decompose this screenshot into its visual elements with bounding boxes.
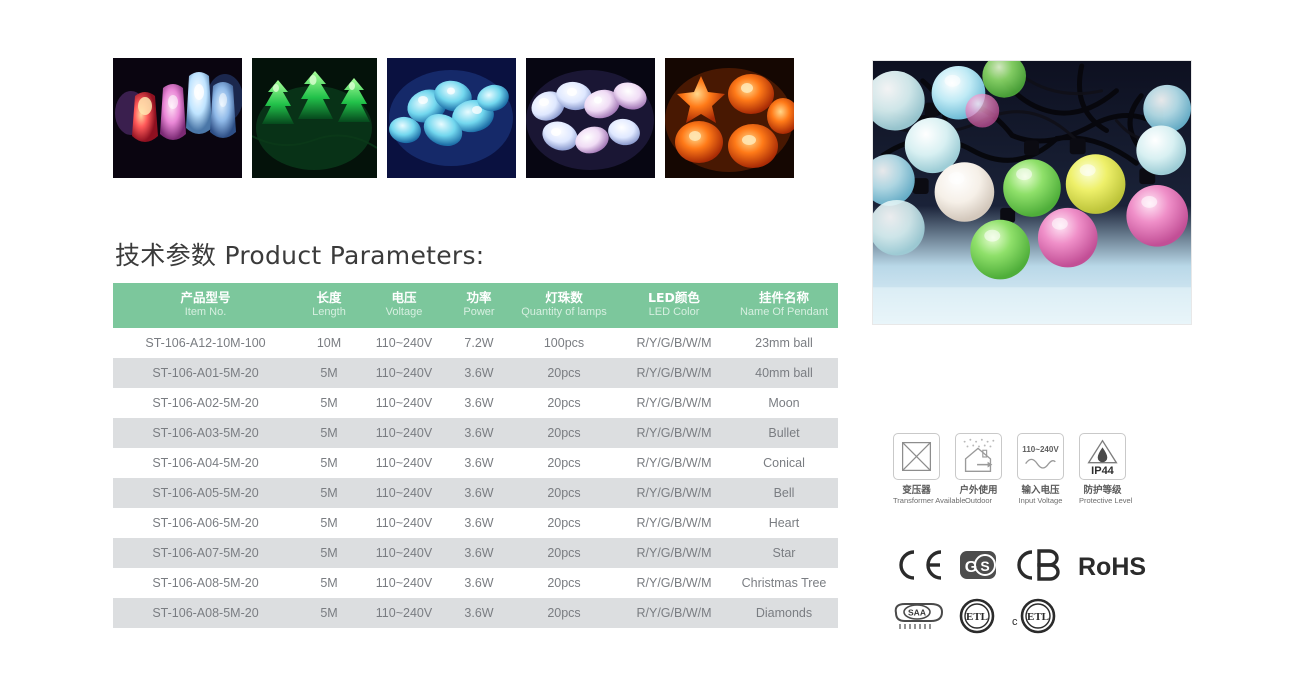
cell-length: 5M bbox=[298, 478, 360, 508]
svg-text:110~240V: 110~240V bbox=[1022, 445, 1059, 454]
cell-pendant-name: 40mm ball bbox=[730, 358, 838, 388]
column-header-length: 长度 Length bbox=[298, 283, 360, 328]
cell-power: 3.6W bbox=[448, 388, 510, 418]
input-voltage-icon: 110~240V bbox=[1017, 433, 1064, 480]
column-header-led-color: LED颜色 LED Color bbox=[618, 283, 730, 328]
cell-power: 3.6W bbox=[448, 418, 510, 448]
cell-pendant-name: Heart bbox=[730, 508, 838, 538]
cell-item-no: ST-106-A02-5M-20 bbox=[113, 388, 298, 418]
table-row: ST-106-A06-5M-205M110~240V3.6W20pcsR/Y/G… bbox=[113, 508, 838, 538]
cell-led-color: R/Y/G/B/W/M bbox=[618, 538, 730, 568]
table-row: ST-106-A03-5M-205M110~240V3.6W20pcsR/Y/G… bbox=[113, 418, 838, 448]
cell-length: 5M bbox=[298, 598, 360, 628]
feature-icon-group: 变压器 Transformer Available 户 bbox=[893, 433, 1126, 506]
cell-power: 3.6W bbox=[448, 358, 510, 388]
cell-item-no: ST-106-A01-5M-20 bbox=[113, 358, 298, 388]
cell-quantity: 20pcs bbox=[510, 538, 618, 568]
cell-led-color: R/Y/G/B/W/M bbox=[618, 418, 730, 448]
product-parameters-table: 产品型号 Item No. 长度 Length 电压 Voltage 功率 Po… bbox=[113, 283, 838, 628]
cell-quantity: 20pcs bbox=[510, 478, 618, 508]
table-row: ST-106-A12-10M-10010M110~240V7.2W100pcsR… bbox=[113, 328, 838, 358]
rohs-mark-icon: RoHS bbox=[1076, 548, 1154, 582]
cell-led-color: R/Y/G/B/W/M bbox=[618, 478, 730, 508]
column-header-item-no: 产品型号 Item No. bbox=[113, 283, 298, 328]
cell-power: 3.6W bbox=[448, 508, 510, 538]
cb-mark-icon bbox=[1011, 548, 1063, 582]
cell-length: 5M bbox=[298, 568, 360, 598]
table-row: ST-106-A08-5M-205M110~240V3.6W20pcsR/Y/G… bbox=[113, 598, 838, 628]
page-title-cn: 技术参数 bbox=[115, 241, 216, 270]
cell-quantity: 20pcs bbox=[510, 388, 618, 418]
cell-quantity: 20pcs bbox=[510, 598, 618, 628]
cell-led-color: R/Y/G/B/W/M bbox=[618, 358, 730, 388]
cell-voltage: 110~240V bbox=[360, 598, 448, 628]
cell-item-no: ST-106-A04-5M-20 bbox=[113, 448, 298, 478]
cell-power: 3.6W bbox=[448, 568, 510, 598]
table-body: ST-106-A12-10M-10010M110~240V7.2W100pcsR… bbox=[113, 328, 838, 628]
column-header-pendant-name: 挂件名称 Name Of Pendant bbox=[730, 283, 838, 328]
cell-led-color: R/Y/G/B/W/M bbox=[618, 448, 730, 478]
feature-outdoor: 户外使用 Outdoor bbox=[955, 433, 1002, 506]
cell-led-color: R/Y/G/B/W/M bbox=[618, 568, 730, 598]
bullet-lamps-photo bbox=[113, 58, 242, 178]
cell-voltage: 110~240V bbox=[360, 418, 448, 448]
cell-item-no: ST-106-A12-10M-100 bbox=[113, 328, 298, 358]
certification-row-secondary: SAA ETL c ETL bbox=[890, 597, 1058, 635]
transformer-icon bbox=[893, 433, 940, 480]
cell-pendant-name: 23mm ball bbox=[730, 328, 838, 358]
outdoor-house-rain-icon bbox=[955, 433, 1002, 480]
cell-power: 3.6W bbox=[448, 598, 510, 628]
cell-pendant-name: Christmas Tree bbox=[730, 568, 838, 598]
led-ball-string-lights-photo bbox=[872, 60, 1192, 325]
feature-transformer: 变压器 Transformer Available bbox=[893, 433, 940, 506]
certification-row-primary: G S RoHS bbox=[893, 548, 1154, 582]
svg-text:ETL: ETL bbox=[966, 611, 988, 623]
cell-led-color: R/Y/G/B/W/M bbox=[618, 328, 730, 358]
cetl-mark-icon: c ETL bbox=[1010, 597, 1058, 635]
table-header-row: 产品型号 Item No. 长度 Length 电压 Voltage 功率 Po… bbox=[113, 283, 838, 328]
etl-mark-icon: ETL bbox=[958, 597, 996, 635]
page-title-en: Product Parameters: bbox=[224, 241, 484, 270]
blue-flower-lamps-photo bbox=[387, 58, 516, 178]
white-petal-lamps-photo bbox=[526, 58, 655, 178]
product-spec-sheet: 技术参数 Product Parameters: 产品型号 Item No. 长… bbox=[0, 0, 1296, 687]
gs-mark-icon: G S bbox=[958, 548, 998, 582]
cell-item-no: ST-106-A06-5M-20 bbox=[113, 508, 298, 538]
cell-length: 10M bbox=[298, 328, 360, 358]
cell-length: 5M bbox=[298, 418, 360, 448]
cell-item-no: ST-106-A03-5M-20 bbox=[113, 418, 298, 448]
table-header: 产品型号 Item No. 长度 Length 电压 Voltage 功率 Po… bbox=[113, 283, 838, 328]
cell-voltage: 110~240V bbox=[360, 358, 448, 388]
column-header-voltage: 电压 Voltage bbox=[360, 283, 448, 328]
cell-power: 7.2W bbox=[448, 328, 510, 358]
cell-power: 3.6W bbox=[448, 538, 510, 568]
svg-text:S: S bbox=[980, 558, 989, 574]
cell-voltage: 110~240V bbox=[360, 478, 448, 508]
table-row: ST-106-A02-5M-205M110~240V3.6W20pcsR/Y/G… bbox=[113, 388, 838, 418]
cell-voltage: 110~240V bbox=[360, 538, 448, 568]
ce-mark-icon bbox=[893, 548, 945, 582]
cell-led-color: R/Y/G/B/W/M bbox=[618, 388, 730, 418]
cell-item-no: ST-106-A08-5M-20 bbox=[113, 568, 298, 598]
cell-led-color: R/Y/G/B/W/M bbox=[618, 598, 730, 628]
feature-protective-level: IP44 防护等级 Protective Level bbox=[1079, 433, 1126, 506]
cell-quantity: 20pcs bbox=[510, 418, 618, 448]
green-tree-lamps-photo bbox=[252, 58, 377, 178]
ip-rating-icon: IP44 bbox=[1079, 433, 1126, 480]
cell-power: 3.6W bbox=[448, 448, 510, 478]
cell-length: 5M bbox=[298, 448, 360, 478]
cell-item-no: ST-106-A07-5M-20 bbox=[113, 538, 298, 568]
table-row: ST-106-A01-5M-205M110~240V3.6W20pcsR/Y/G… bbox=[113, 358, 838, 388]
cell-pendant-name: Conical bbox=[730, 448, 838, 478]
svg-text:RoHS: RoHS bbox=[1078, 553, 1146, 581]
cell-quantity: 20pcs bbox=[510, 358, 618, 388]
cell-quantity: 20pcs bbox=[510, 568, 618, 598]
cell-voltage: 110~240V bbox=[360, 448, 448, 478]
cell-quantity: 20pcs bbox=[510, 448, 618, 478]
saa-mark-icon: SAA bbox=[890, 599, 944, 633]
page-title: 技术参数 Product Parameters: bbox=[115, 236, 485, 272]
column-header-quantity: 灯珠数 Quantity of lamps bbox=[510, 283, 618, 328]
table-row: ST-106-A05-5M-205M110~240V3.6W20pcsR/Y/G… bbox=[113, 478, 838, 508]
cell-pendant-name: Diamonds bbox=[730, 598, 838, 628]
svg-text:c: c bbox=[1012, 616, 1018, 628]
table-row: ST-106-A04-5M-205M110~240V3.6W20pcsR/Y/G… bbox=[113, 448, 838, 478]
cell-power: 3.6W bbox=[448, 478, 510, 508]
svg-text:IP44: IP44 bbox=[1091, 465, 1115, 477]
cell-item-no: ST-106-A05-5M-20 bbox=[113, 478, 298, 508]
cell-item-no: ST-106-A08-5M-20 bbox=[113, 598, 298, 628]
cell-quantity: 100pcs bbox=[510, 328, 618, 358]
cell-pendant-name: Bell bbox=[730, 478, 838, 508]
svg-text:ETL: ETL bbox=[1027, 611, 1049, 623]
cell-length: 5M bbox=[298, 538, 360, 568]
cell-voltage: 110~240V bbox=[360, 508, 448, 538]
product-thumbnail-strip bbox=[113, 58, 794, 178]
cell-led-color: R/Y/G/B/W/M bbox=[618, 508, 730, 538]
cell-voltage: 110~240V bbox=[360, 568, 448, 598]
cell-pendant-name: Star bbox=[730, 538, 838, 568]
svg-text:SAA: SAA bbox=[908, 608, 926, 618]
cell-pendant-name: Bullet bbox=[730, 418, 838, 448]
cell-quantity: 20pcs bbox=[510, 508, 618, 538]
cell-length: 5M bbox=[298, 358, 360, 388]
cell-length: 5M bbox=[298, 508, 360, 538]
cell-voltage: 110~240V bbox=[360, 388, 448, 418]
cell-length: 5M bbox=[298, 388, 360, 418]
cell-pendant-name: Moon bbox=[730, 388, 838, 418]
orange-lamps-photo bbox=[665, 58, 794, 178]
cell-voltage: 110~240V bbox=[360, 328, 448, 358]
table-row: ST-106-A08-5M-205M110~240V3.6W20pcsR/Y/G… bbox=[113, 568, 838, 598]
column-header-power: 功率 Power bbox=[448, 283, 510, 328]
feature-input-voltage: 110~240V 输入电压 Input Voltage bbox=[1017, 433, 1064, 506]
table-row: ST-106-A07-5M-205M110~240V3.6W20pcsR/Y/G… bbox=[113, 538, 838, 568]
